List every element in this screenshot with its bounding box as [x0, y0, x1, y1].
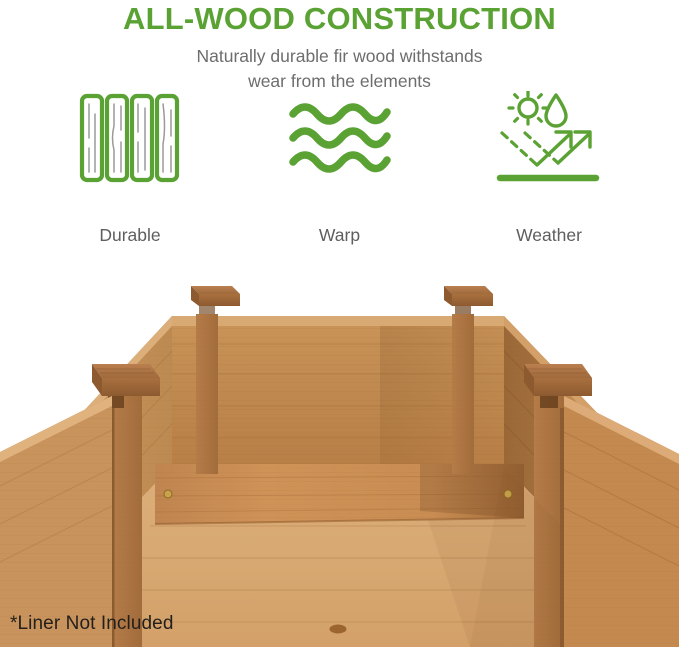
page-title: ALL-WOOD CONSTRUCTION [0, 0, 679, 38]
feature-label-durable-line-1: Durable [99, 223, 160, 248]
wavy-lines-icon [287, 92, 393, 184]
wood-planks-icon [78, 92, 182, 184]
header-block: ALL-WOOD CONSTRUCTION Naturally durable … [0, 0, 679, 94]
sun-water-deflect-icon [494, 92, 604, 184]
subtitle: Naturally durable fir wood withstands we… [0, 44, 679, 94]
subtitle-line-1: Naturally durable fir wood withstands [0, 44, 679, 69]
feature-label-warp-line-1: Warp [303, 223, 376, 248]
feature-label-weather-line-1: Weather [513, 223, 586, 248]
product-feature-graphic: ALL-WOOD CONSTRUCTION Naturally durable … [0, 0, 679, 647]
screw-head [164, 490, 172, 498]
drain-hole [330, 625, 347, 634]
liner-disclaimer: *Liner Not Included [10, 613, 174, 635]
product-photo: *Liner Not Included [0, 256, 679, 647]
raised-garden-bed-illustration [0, 256, 679, 647]
